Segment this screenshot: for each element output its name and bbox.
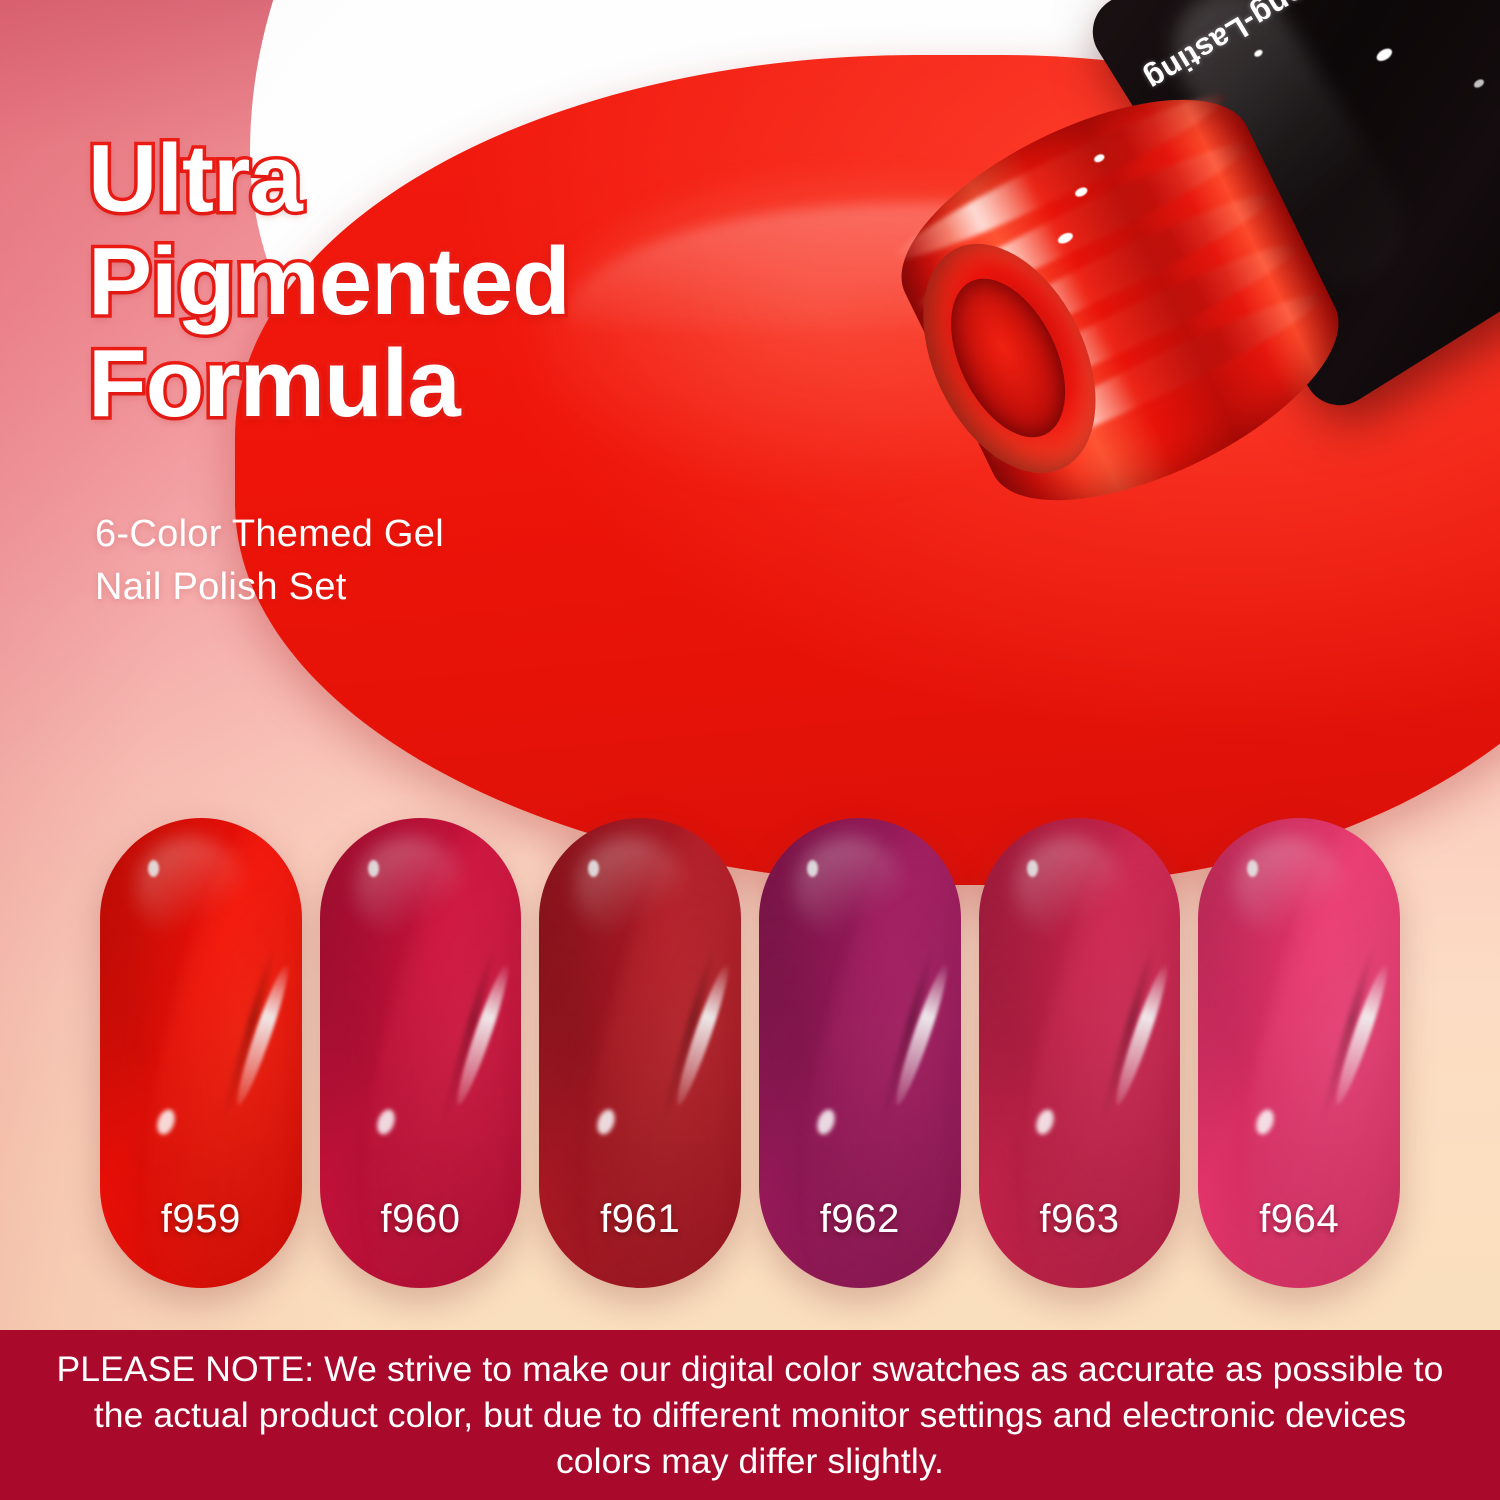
bottle-specular-highlight [1472,78,1485,90]
subtitle-line-1: 6-Color Themed Gel [95,508,715,561]
color-swatch[interactable]: f964 [1198,818,1400,1288]
color-swatch[interactable]: f959 [100,818,302,1288]
headline-line-3: Formula [88,333,848,436]
disclaimer-band: PLEASE NOTE: We strive to make our digit… [0,1330,1500,1500]
bottle-specular-highlight [1374,46,1394,63]
headline: Ultra Pigmented Formula [88,128,848,436]
subtitle: 6-Color Themed Gel Nail Polish Set [95,508,715,614]
color-swatch[interactable]: f962 [759,818,961,1288]
swatch-label: f960 [320,1197,522,1242]
color-swatch[interactable]: f960 [320,818,522,1288]
color-swatch[interactable]: f963 [979,818,1181,1288]
color-swatch[interactable]: f961 [539,818,741,1288]
disclaimer-text: PLEASE NOTE: We strive to make our digit… [50,1346,1450,1484]
swatch-label: f963 [979,1197,1181,1242]
product-infographic-poster: Long-Lasting Ultra Pigmented Formula 6-C… [0,0,1500,1500]
swatch-label: f959 [100,1197,302,1242]
swatch-label: f962 [759,1197,961,1242]
color-swatch-row: f959 f960 f961 [100,818,1400,1288]
headline-line-2: Pigmented [88,231,848,334]
headline-line-1: Ultra [88,128,848,231]
swatch-label: f961 [539,1197,741,1242]
swatch-label: f964 [1198,1197,1400,1242]
subtitle-line-2: Nail Polish Set [95,561,715,614]
